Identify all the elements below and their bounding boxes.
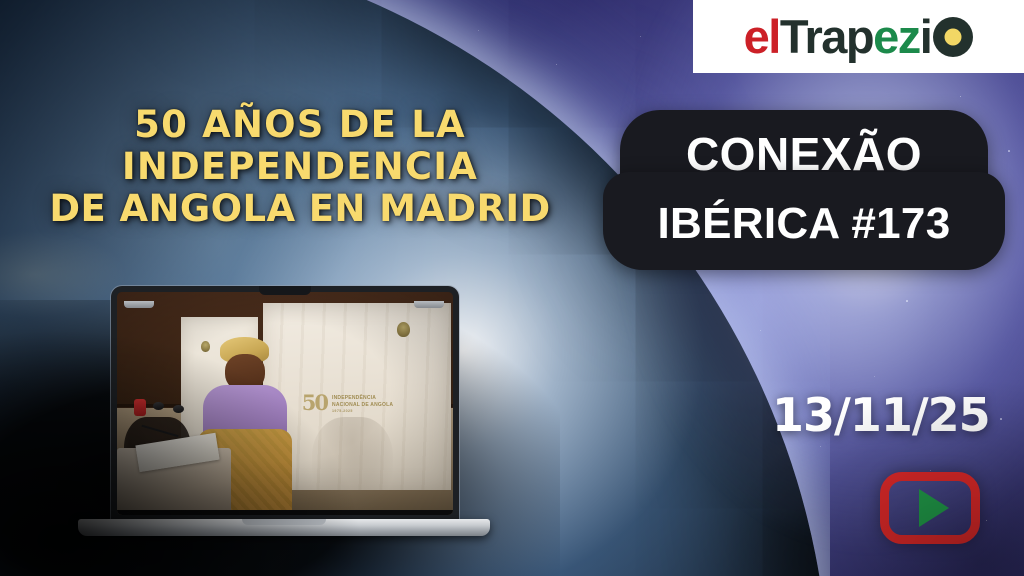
laptop-foot-right xyxy=(414,301,444,308)
episode-badge: CONEXÃO IBÉRICA #173 xyxy=(603,110,1005,270)
brand-logo-wordmark: elTrapezi xyxy=(744,13,974,60)
logo-part-trap: Trap xyxy=(780,13,873,60)
thumbnail-canvas: elTrapezi 50 AÑOS DE LA INDEPENDENCIA DE… xyxy=(0,0,1024,576)
headline-line-1: 50 AÑOS DE LA xyxy=(0,104,600,146)
laptop-notch xyxy=(259,286,311,295)
laptop-base xyxy=(78,519,490,536)
laptop-screen[interactable]: 50 INDEPENDÊNCIA NACIONAL DE ANGOLA 1975… xyxy=(117,292,453,515)
laptop-mockup: 50 INDEPENDÊNCIA NACIONAL DE ANGOLA 1975… xyxy=(78,286,490,548)
brand-logo[interactable]: elTrapezi xyxy=(693,0,1024,73)
logo-part-el: el xyxy=(744,13,780,60)
event-photo: 50 INDEPENDÊNCIA NACIONAL DE ANGOLA 1975… xyxy=(117,292,453,515)
logo-part-ez: ez xyxy=(873,13,920,60)
headline-line-2: INDEPENDENCIA xyxy=(0,146,600,188)
photo-vignette xyxy=(117,292,453,515)
logo-part-i: i xyxy=(920,13,932,60)
circle-dot-icon xyxy=(933,17,973,57)
headline-line-3: DE ANGOLA EN MADRID xyxy=(0,188,600,230)
laptop-lid: 50 INDEPENDÊNCIA NACIONAL DE ANGOLA 1975… xyxy=(111,286,459,522)
episode-badge-line-2: IBÉRICA #173 xyxy=(603,172,1005,270)
photo-letterbox-bottom xyxy=(117,510,453,515)
play-triangle-icon xyxy=(919,489,949,527)
play-button[interactable] xyxy=(880,472,980,544)
episode-date: 13/11/25 xyxy=(772,388,990,442)
headline: 50 AÑOS DE LA INDEPENDENCIA DE ANGOLA EN… xyxy=(0,104,600,229)
laptop-foot-left xyxy=(124,301,154,308)
